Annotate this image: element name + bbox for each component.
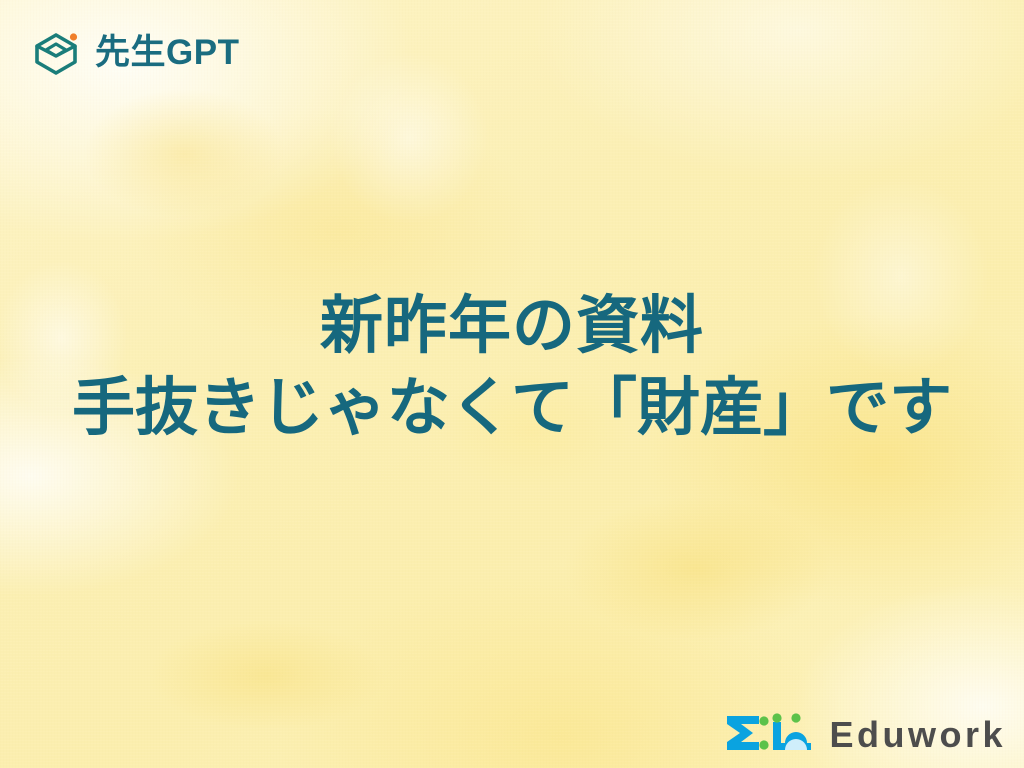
eduwork-mark-icon	[723, 712, 815, 758]
headline-line-1: 新昨年の資料	[0, 286, 1024, 368]
footer-logo: Eduwork	[723, 712, 1006, 758]
page-title: 新昨年の資料 手抜きじゃなくて「財産」です	[0, 286, 1024, 450]
brand-name: 先生GPT	[95, 35, 239, 70]
graduation-cap-hexagon-icon	[30, 26, 82, 78]
brand-logo: 先生GPT	[30, 26, 239, 78]
slide-canvas: 先生GPT 新昨年の資料 手抜きじゃなくて「財産」です Eduwork	[0, 0, 1024, 768]
footer-brand-name: Eduwork	[829, 717, 1006, 753]
headline-line-2: 手抜きじゃなくて「財産」です	[0, 368, 1024, 450]
